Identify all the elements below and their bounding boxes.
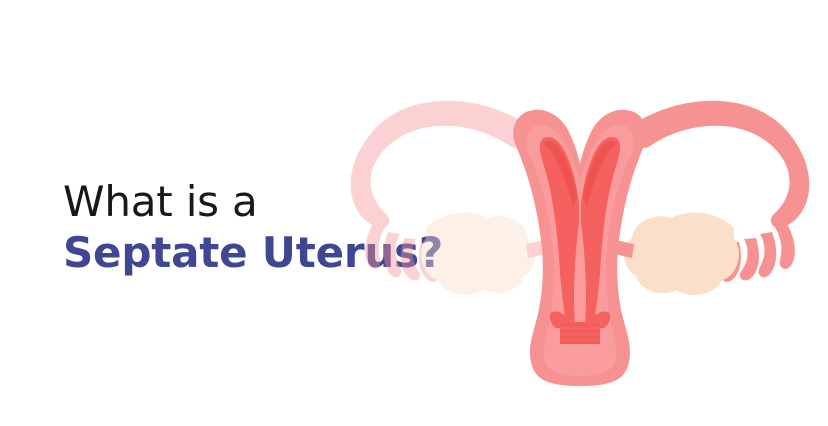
left-fallopian-tube [351, 101, 527, 228]
septate-uterus-illustration [330, 72, 828, 392]
right-fallopian-tube [633, 101, 809, 228]
right-ovary [624, 213, 739, 295]
page-canvas: What is a Septate Uterus? [0, 0, 828, 426]
uterus-diagram-svg [330, 72, 828, 392]
left-ovary [421, 213, 536, 295]
